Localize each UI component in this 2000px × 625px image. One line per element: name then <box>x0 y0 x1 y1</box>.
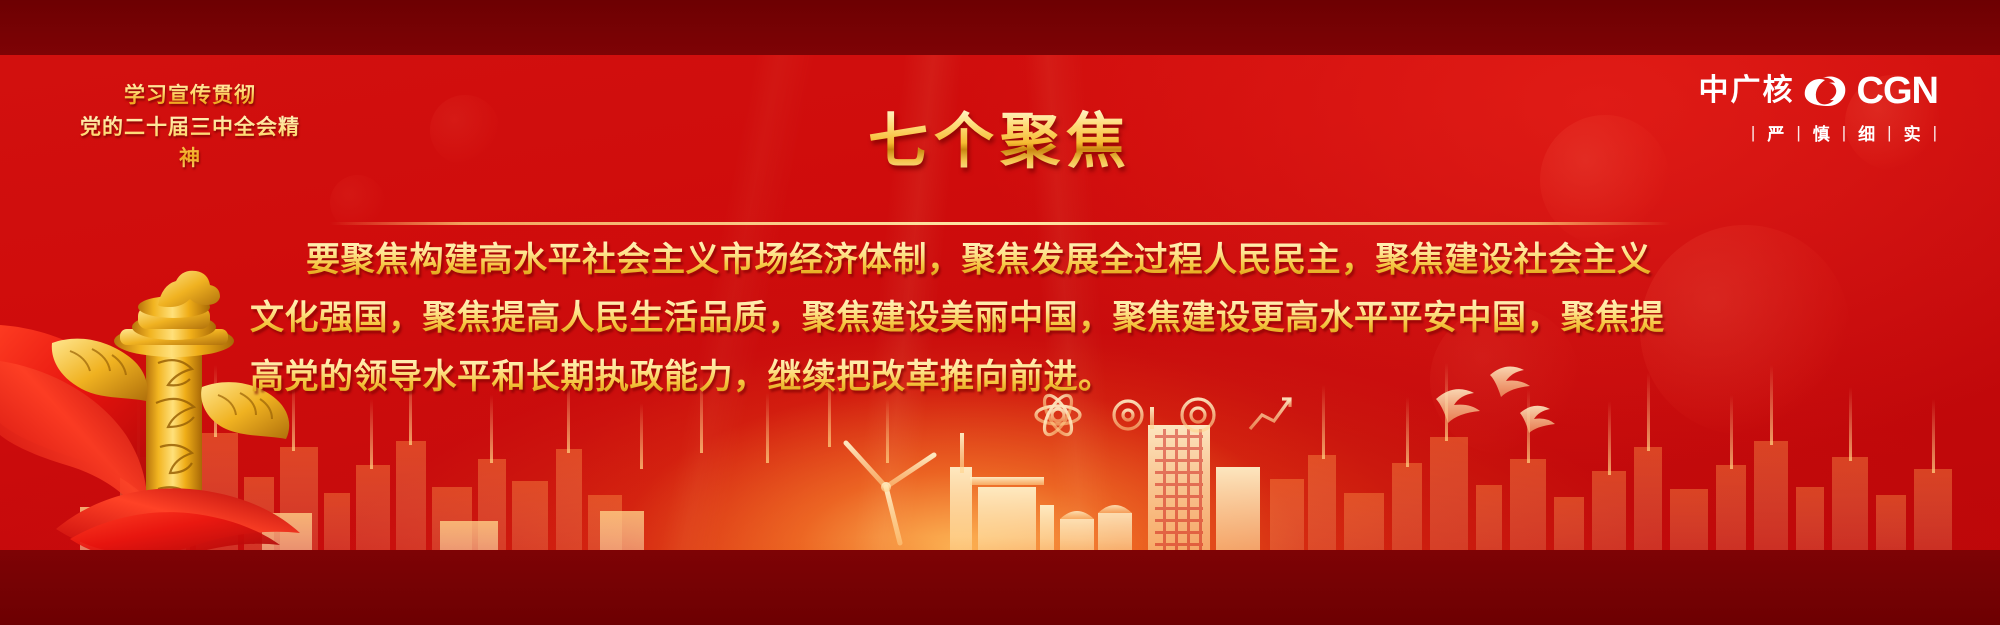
body-text-block: 要聚焦构建高水平社会主义市场经济体制，聚焦发展全过程人民民主，聚焦建设社会主义 … <box>250 236 1750 411</box>
body-line-1: 要聚焦构建高水平社会主义市场经济体制，聚焦发展全过程人民民主，聚焦建设社会主义 <box>250 236 1750 284</box>
cgn-swoosh-mark <box>1799 74 1853 108</box>
page-title: 七个聚焦 <box>0 108 2000 175</box>
propaganda-banner: 学习宣传贯彻 党的二十届三中全会精神 中广核 CGN | 严 | 慎 | 细 |… <box>0 0 2000 625</box>
logo-english-name: CGN <box>1857 72 1938 110</box>
logo-wordmark-row: 中广核 CGN <box>1699 72 1938 110</box>
logo-chinese-name: 中广核 <box>1699 76 1795 106</box>
body-line-2: 文化强国，聚焦提高人民生活品质，聚焦建设美丽中国，聚焦建设更高水平平安中国，聚焦… <box>250 294 1750 342</box>
gold-divider <box>330 222 1670 225</box>
slogan-line-1: 学习宣传贯彻 <box>75 80 305 112</box>
body-line-3: 高党的领导水平和长期执政能力，继续把改革推向前进。 <box>250 353 1750 401</box>
top-bar <box>0 0 2000 55</box>
title-block: 七个聚焦 <box>0 108 2000 175</box>
bottom-bar <box>0 550 2000 625</box>
